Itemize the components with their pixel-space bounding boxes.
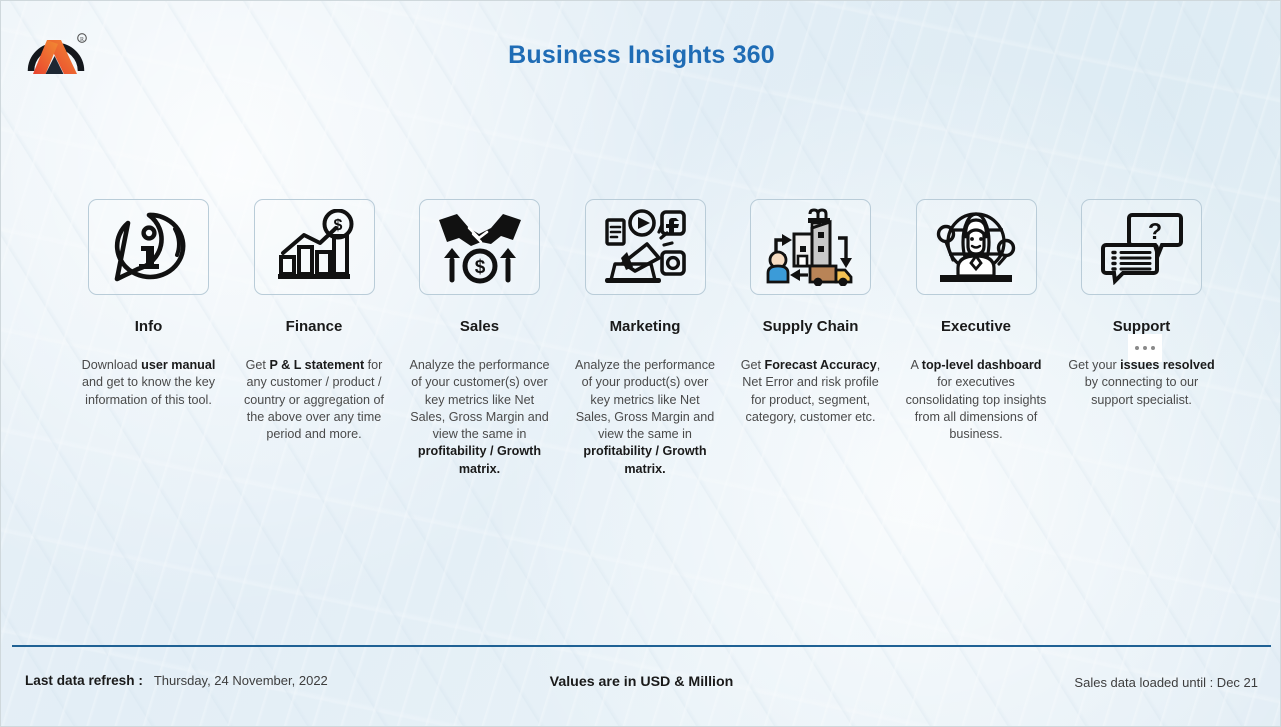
card-desc-sales: Analyze the performance of your customer…: [406, 357, 553, 478]
card-title-executive: Executive: [941, 318, 1011, 335]
marketing-icon-box[interactable]: [585, 199, 706, 295]
svg-text:?: ?: [1147, 218, 1161, 244]
card-desc-finance: Get P & L statement for any customer / p…: [241, 357, 388, 443]
factory-truck-customer-icon: [764, 208, 858, 286]
info-speech-bubble-icon: [107, 207, 191, 287]
bar-chart-dollar-icon: $: [270, 209, 358, 285]
nav-card-info[interactable]: Info Download user manual and get to kno…: [75, 199, 222, 409]
units-note-text: Values are in USD & Million: [550, 674, 734, 690]
nav-card-marketing[interactable]: Marketing Analyze the performance of you…: [572, 199, 719, 478]
nav-card-finance[interactable]: $ Finance Get P & L statement for any cu…: [241, 199, 388, 443]
nav-card-executive[interactable]: Executive A top-level dashboard for exec…: [903, 199, 1050, 443]
info-icon-box[interactable]: [88, 199, 209, 295]
footer-bar: Last data refresh : Thursday, 24 Novembe…: [1, 673, 1281, 699]
executive-globe-person-icon: [932, 208, 1020, 286]
footer-load-note: Sales data loaded until : Dec 21: [1074, 674, 1258, 692]
load-note-text: Sales data loaded until : Dec 21: [1074, 675, 1258, 690]
supply-chain-icon-box[interactable]: [750, 199, 871, 295]
ellipsis-dot: [1143, 346, 1147, 350]
card-title-support: Support: [1113, 318, 1171, 335]
card-title-info: Info: [135, 318, 163, 335]
card-desc-supply-chain: Get Forecast Accuracy, Net Error and ris…: [737, 357, 884, 426]
ellipsis-dot: [1135, 346, 1139, 350]
sales-icon-box[interactable]: $: [419, 199, 540, 295]
card-desc-executive: A top-level dashboard for executives con…: [903, 357, 1050, 443]
support-icon-box[interactable]: ?: [1081, 199, 1202, 295]
question-answer-bubbles-icon: ?: [1100, 209, 1184, 285]
svg-text:$: $: [334, 217, 343, 234]
megaphone-social-media-icon: [601, 208, 689, 286]
footer-divider: [12, 645, 1271, 647]
page-title: Business Insights 360: [1, 41, 1281, 70]
card-title-supply-chain: Supply Chain: [763, 318, 859, 335]
card-desc-info: Download user manual and get to know the…: [75, 357, 222, 409]
navigation-card-strip: Info Download user manual and get to kno…: [75, 199, 1215, 478]
executive-icon-box[interactable]: [916, 199, 1037, 295]
card-desc-marketing: Analyze the performance of your product(…: [572, 357, 719, 478]
ellipsis-dot: [1151, 346, 1155, 350]
svg-text:$: $: [474, 257, 485, 278]
handshake-dollar-arrows-icon: $: [435, 208, 525, 286]
nav-card-sales[interactable]: $ Sales Analyze the performance of your …: [406, 199, 553, 478]
finance-icon-box[interactable]: $: [254, 199, 375, 295]
card-title-marketing: Marketing: [610, 318, 681, 335]
nav-card-support[interactable]: ? Support Get your issues resolved by co…: [1068, 199, 1215, 409]
card-desc-support: Get your issues resolved by connecting t…: [1068, 357, 1215, 409]
nav-card-supply-chain[interactable]: Supply Chain Get Forecast Accuracy, Net …: [737, 199, 884, 426]
ellipsis-more-options-icon[interactable]: [1128, 334, 1162, 362]
card-title-sales: Sales: [460, 318, 499, 335]
dashboard-landing-page: R Business Insights 360 Info Download us…: [0, 0, 1281, 727]
card-title-finance: Finance: [286, 318, 343, 335]
